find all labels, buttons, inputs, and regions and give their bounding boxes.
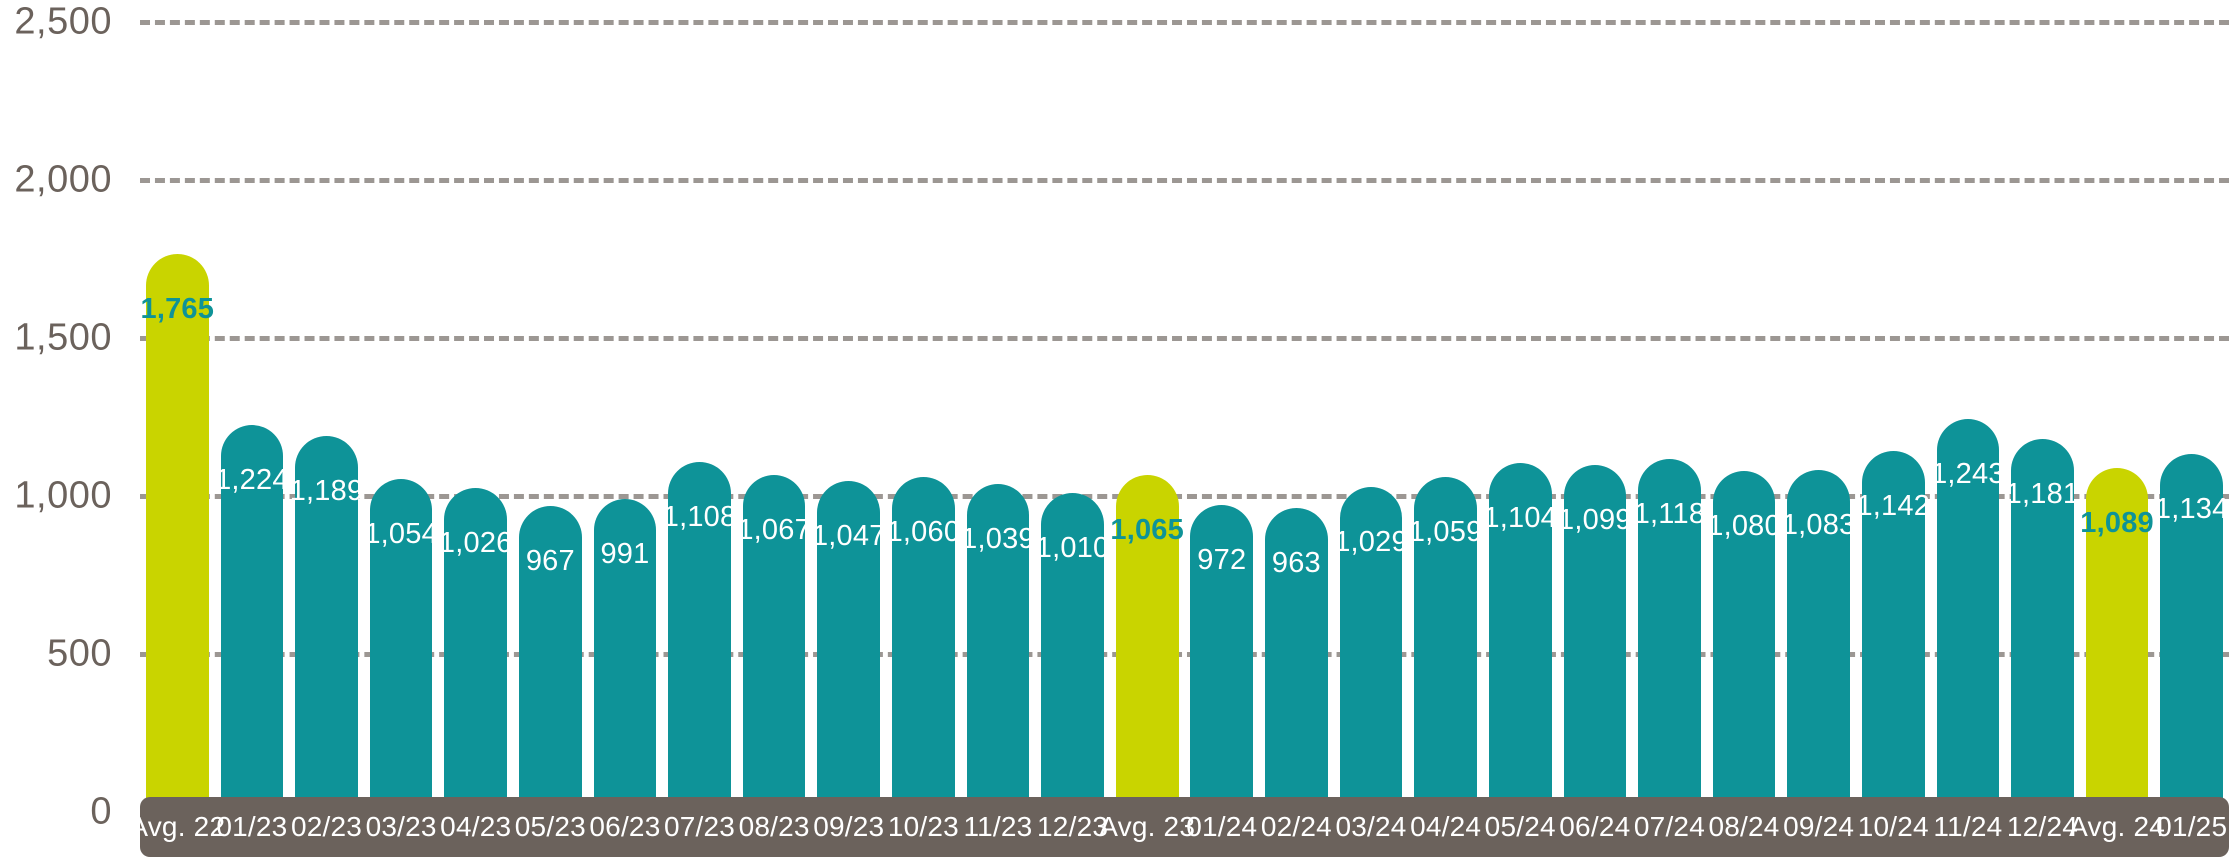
bar-value-label: 1,243 <box>1931 458 2005 491</box>
bar-value-label: 1,039 <box>961 523 1035 556</box>
x-axis-band: Avg. 2201/2302/2303/2304/2305/2306/2307/… <box>140 797 2229 857</box>
bar-slot: 991 <box>594 0 657 868</box>
bar-value-label: 1,089 <box>2080 507 2154 540</box>
x-axis-tick-label: 03/23 <box>366 811 437 843</box>
x-axis-tick-label: 04/23 <box>440 811 511 843</box>
y-axis-tick-label: 1,500 <box>14 317 112 360</box>
bar-slot: 1,224 <box>221 0 284 868</box>
x-axis-tick-label: 10/23 <box>888 811 959 843</box>
x-axis-tick-label: 04/24 <box>1410 811 1481 843</box>
y-axis-tick-label: 2,500 <box>14 1 112 44</box>
bar-slot: 1,142 <box>1862 0 1925 868</box>
bar[interactable] <box>146 254 209 812</box>
bar-value-label: 1,118 <box>1634 498 1705 531</box>
bar-value-label: 1,010 <box>1036 532 1110 565</box>
x-axis-tick-label: 05/23 <box>515 811 586 843</box>
bar-slot: 1,067 <box>743 0 806 868</box>
bar-value-label: 1,054 <box>364 518 438 551</box>
bar-slot: 1,026 <box>444 0 507 868</box>
bar-slot: 1,243 <box>1937 0 2000 868</box>
x-axis-tick-label: Avg. 24 <box>2069 811 2165 843</box>
bar-value-label: 1,059 <box>1409 516 1483 549</box>
y-axis: 05001,0001,5002,0002,500 <box>0 0 140 868</box>
x-axis-tick-label: 09/23 <box>813 811 884 843</box>
x-axis-tick-label: 01/25 <box>2156 811 2227 843</box>
bar-value-label: 972 <box>1197 544 1246 577</box>
x-axis-tick-label: 08/24 <box>1709 811 1780 843</box>
bar-slot: 1,047 <box>817 0 880 868</box>
bar-slot: 1,029 <box>1340 0 1403 868</box>
x-axis-tick-label: 02/24 <box>1261 811 1332 843</box>
bar-slot: 1,054 <box>370 0 433 868</box>
bar-slot: 1,083 <box>1787 0 1850 868</box>
bar-value-label: 1,224 <box>215 464 289 497</box>
x-axis-tick-label: 08/23 <box>739 811 810 843</box>
x-axis-tick-label: 06/23 <box>589 811 660 843</box>
bar-value-label: 1,134 <box>2155 493 2229 526</box>
bar-value-label: 963 <box>1272 547 1321 580</box>
bar-slot: 1,059 <box>1414 0 1477 868</box>
x-axis-tick-label: 10/24 <box>1858 811 1929 843</box>
bar-value-label: 1,067 <box>737 514 811 547</box>
x-axis-tick-label: 09/24 <box>1783 811 1854 843</box>
bar-slot: 1,181 <box>2011 0 2074 868</box>
bar-value-label: 1,083 <box>1782 509 1856 542</box>
bar-chart: 05001,0001,5002,0002,500 1,7651,2241,189… <box>0 0 2229 868</box>
y-axis-tick-label: 1,000 <box>14 475 112 518</box>
x-axis-tick-label: 07/24 <box>1634 811 1705 843</box>
bar-slot: 1,118 <box>1638 0 1701 868</box>
bar-slot: 1,089 <box>2086 0 2149 868</box>
bar-value-label: 1,029 <box>1334 526 1408 559</box>
x-axis-tick-label: 11/23 <box>963 811 1032 843</box>
x-axis-tick-label: 12/24 <box>2007 811 2078 843</box>
bar-slot: 1,134 <box>2160 0 2223 868</box>
bar-slot: 1,080 <box>1713 0 1776 868</box>
bar-slot: 963 <box>1265 0 1328 868</box>
bar-value-label: 991 <box>600 538 649 571</box>
x-axis-tick-label: 06/24 <box>1559 811 1630 843</box>
x-axis-tick-label: Avg. 23 <box>1099 811 1195 843</box>
bar-slot: 1,108 <box>668 0 731 868</box>
bar-slot: 967 <box>519 0 582 868</box>
bar-slot: 1,010 <box>1041 0 1104 868</box>
bar-value-label: 1,065 <box>1110 514 1184 547</box>
bar-value-label: 1,104 <box>1483 502 1557 535</box>
bar-value-label: 1,026 <box>439 527 513 560</box>
x-axis-tick-label: 12/23 <box>1037 811 1108 843</box>
bar-value-label: 1,181 <box>2006 478 2080 511</box>
bar-slot: 1,189 <box>295 0 358 868</box>
bar-value-label: 1,108 <box>663 501 737 534</box>
y-axis-tick-label: 0 <box>90 791 112 834</box>
bar-slot: 1,099 <box>1564 0 1627 868</box>
bar-slot: 1,065 <box>1116 0 1179 868</box>
bar-value-label: 1,189 <box>290 475 364 508</box>
bar-value-label: 1,765 <box>140 293 214 326</box>
x-axis-tick-label: Avg. 22 <box>129 811 225 843</box>
x-axis-tick-label: 01/24 <box>1186 811 1257 843</box>
x-axis-tick-label: 03/24 <box>1335 811 1406 843</box>
bar-slot: 1,104 <box>1489 0 1552 868</box>
bar-slot: 1,039 <box>967 0 1030 868</box>
bar-value-label: 1,060 <box>887 516 961 549</box>
x-axis-tick-label: 07/23 <box>664 811 735 843</box>
plot-area: 1,7651,2241,1891,0541,0269679911,1081,06… <box>140 0 2229 868</box>
x-axis-tick-label: 11/24 <box>1933 811 2002 843</box>
bar-value-label: 1,080 <box>1707 510 1781 543</box>
bar-value-label: 1,142 <box>1856 490 1930 523</box>
bar-slot: 972 <box>1190 0 1253 868</box>
bar-value-label: 967 <box>526 545 575 578</box>
bar-value-label: 1,099 <box>1558 504 1632 537</box>
y-axis-tick-label: 500 <box>47 633 112 676</box>
x-axis-tick-label: 05/24 <box>1485 811 1556 843</box>
bar-slot: 1,765 <box>146 0 209 868</box>
x-axis-tick-label: 01/23 <box>216 811 287 843</box>
x-axis-tick-label: 02/23 <box>291 811 362 843</box>
y-axis-tick-label: 2,000 <box>14 159 112 202</box>
bar-value-label: 1,047 <box>812 520 886 553</box>
bar-slot: 1,060 <box>892 0 955 868</box>
